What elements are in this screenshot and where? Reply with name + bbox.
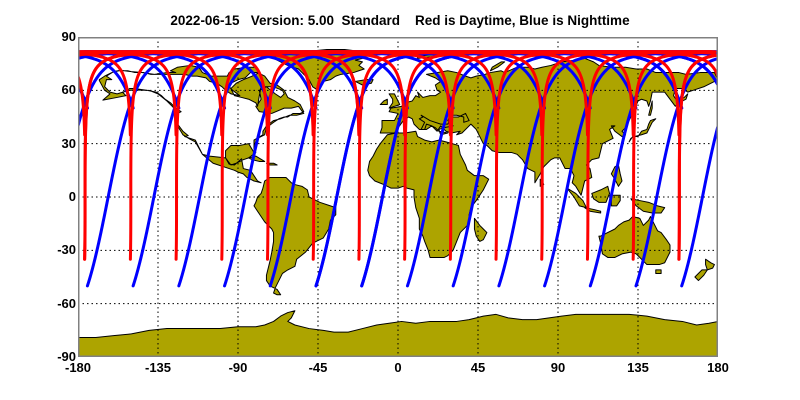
y-axis-tick-label: -60: [57, 296, 76, 311]
x-axis-tick-label: 90: [528, 360, 588, 375]
map-svg: [78, 37, 718, 357]
x-axis-tick-label: -90: [208, 360, 268, 375]
land-tasmania: [656, 270, 661, 274]
plot-area: [78, 37, 718, 357]
x-axis-tick-label: -135: [128, 360, 188, 375]
page-title: 2022-06-15 Version: 5.00 Standard Red is…: [0, 13, 800, 28]
x-axis-tick-label: 45: [448, 360, 508, 375]
x-axis-tick-label: -180: [48, 360, 108, 375]
x-axis-tick-label: -45: [288, 360, 348, 375]
y-axis-tick-label: 0: [69, 189, 76, 204]
y-axis-tick-label: 60: [62, 82, 76, 97]
ground-track-map: 2022-06-15 Version: 5.00 Standard Red is…: [0, 0, 800, 400]
y-axis-tick-label: 90: [62, 29, 76, 44]
x-axis-tick-label: 0: [368, 360, 428, 375]
x-axis-tick-label: 135: [608, 360, 668, 375]
y-axis-tick-label: 30: [62, 136, 76, 151]
y-axis-tick-label: -30: [57, 242, 76, 257]
x-axis-tick-label: 180: [688, 360, 748, 375]
